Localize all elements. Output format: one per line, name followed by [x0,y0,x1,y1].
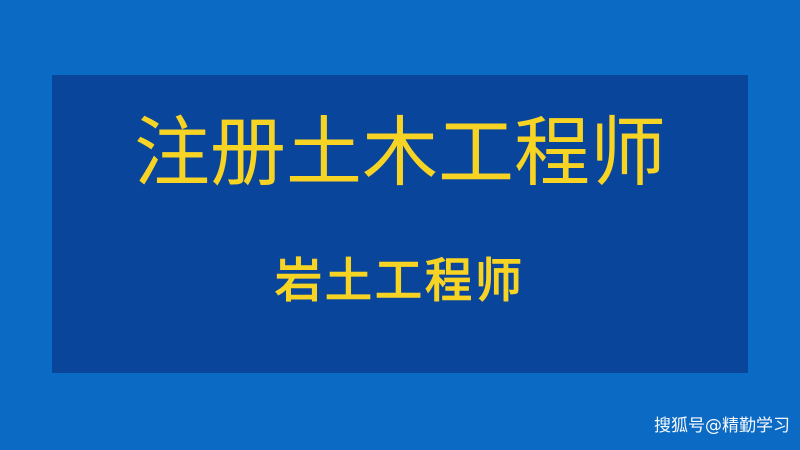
watermark-label: 搜狐号@精勤学习 [654,416,790,436]
slide-canvas: 注册土木工程师 岩土工程师 搜狐号@精勤学习 [0,0,800,450]
page-title: 注册土木工程师 [52,113,748,193]
page-subtitle: 岩土工程师 [52,257,748,307]
title-panel: 注册土木工程师 岩土工程师 [52,75,748,373]
